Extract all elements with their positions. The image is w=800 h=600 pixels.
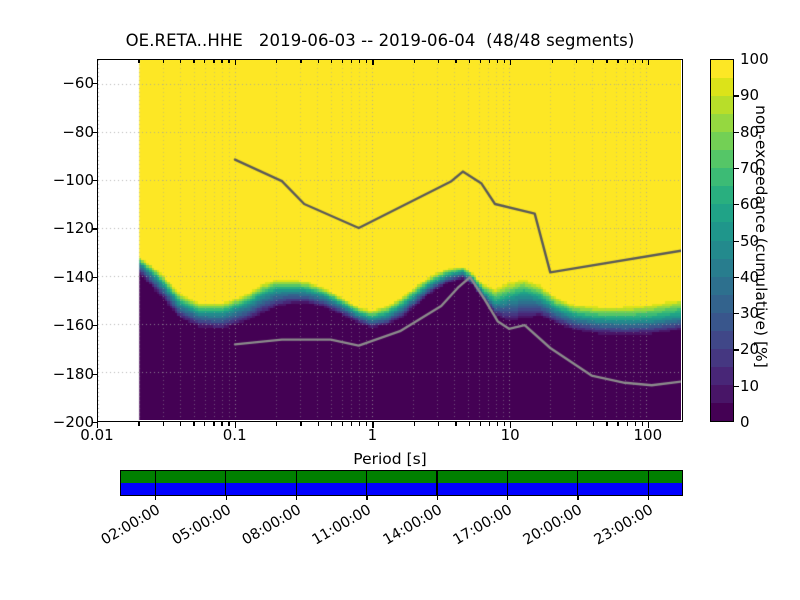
timeline-tick-mark <box>577 496 578 500</box>
colorbar-tick-mark <box>734 313 739 314</box>
colorbar-tick-mark <box>734 204 739 205</box>
x-axis-tick-mark-top <box>510 59 511 65</box>
y-axis-tick-label: −60 <box>4 74 94 92</box>
x-axis-tick-mark-top <box>359 59 360 63</box>
x-axis-tick-mark-top <box>552 59 553 63</box>
x-axis-tick-mark-top <box>642 59 643 63</box>
colorbar-tick-label: 0 <box>740 413 750 431</box>
x-axis-tick-label: 1 <box>332 426 412 444</box>
colorbar-tick-mark <box>734 241 739 242</box>
x-axis-tick-mark-top <box>593 59 594 63</box>
colorbar-band <box>711 295 733 313</box>
y-axis-tick-mark <box>92 374 97 375</box>
timeline-divider <box>296 471 297 495</box>
timeline-divider <box>436 471 437 495</box>
x-axis-tick-mark <box>497 422 498 426</box>
x-axis-tick-mark-top <box>97 59 98 65</box>
colorbar-gradient <box>711 60 733 421</box>
x-axis-tick-mark <box>97 422 98 428</box>
colorbar-tick-label: 100 <box>740 50 769 68</box>
x-axis-tick-mark <box>617 422 618 426</box>
x-axis-tick-mark <box>552 422 553 426</box>
colorbar-band <box>711 114 733 132</box>
x-axis-tick-mark <box>504 422 505 426</box>
ppsd-figure: OE.RETA..HHE 2019-06-03 -- 2019-06-04 (4… <box>0 0 800 600</box>
colorbar-band <box>711 78 733 96</box>
x-axis-tick-mark <box>331 422 332 426</box>
x-axis-tick-mark-top <box>489 59 490 63</box>
x-axis-tick-mark <box>593 422 594 426</box>
timeline-divider <box>225 471 226 495</box>
colorbar-tick-label: 80 <box>740 123 759 141</box>
colorbar-band <box>711 259 733 277</box>
y-axis-tick-label: −100 <box>4 171 94 189</box>
x-axis-tick-mark-top <box>163 59 164 63</box>
x-axis-tick-mark <box>576 422 577 426</box>
timeline-data-band <box>121 471 682 483</box>
timeline-tick-label: 11:00:00 <box>304 502 374 552</box>
colorbar-band <box>711 403 733 421</box>
x-axis-tick-mark-top <box>276 59 277 63</box>
colorbar-band <box>711 241 733 259</box>
x-axis-tick-mark-top <box>635 59 636 63</box>
colorbar-tick-mark <box>734 349 739 350</box>
x-axis-tick-mark-top <box>414 59 415 63</box>
x-axis-tick-mark-top <box>606 59 607 63</box>
timeline-tick-label: 08:00:00 <box>234 502 304 552</box>
x-axis-tick-mark <box>642 422 643 426</box>
timeline-tick-label: 20:00:00 <box>515 502 585 552</box>
x-axis-tick-mark-top <box>204 59 205 63</box>
x-axis-tick-mark <box>648 422 649 428</box>
x-axis-tick-mark <box>138 422 139 426</box>
x-axis-tick-mark <box>228 422 229 426</box>
colorbar-tick-mark <box>734 386 739 387</box>
x-axis-tick-mark <box>300 422 301 426</box>
x-axis-tick-mark <box>455 422 456 426</box>
x-axis-tick-mark-top <box>469 59 470 63</box>
colorbar-tick-label: 90 <box>740 86 759 104</box>
y-axis-tick-label: −120 <box>4 219 94 237</box>
x-axis-tick-mark <box>510 422 511 428</box>
x-axis-tick-mark <box>213 422 214 426</box>
colorbar-band <box>711 96 733 114</box>
x-axis-tick-mark-top <box>213 59 214 63</box>
x-axis-tick-mark <box>627 422 628 426</box>
plot-title: OE.RETA..HHE 2019-06-03 -- 2019-06-04 (4… <box>0 31 760 50</box>
timeline-tick-label: 17:00:00 <box>445 502 515 552</box>
y-axis-tick-label: −160 <box>4 316 94 334</box>
x-axis-tick-mark-top <box>300 59 301 63</box>
colorbar-band <box>711 222 733 240</box>
x-axis-tick-mark <box>438 422 439 426</box>
x-axis-tick-mark-top <box>138 59 139 63</box>
y-axis-tick-mark <box>92 228 97 229</box>
ppsd-histogram <box>98 60 681 420</box>
x-axis-tick-label: 0.01 <box>57 426 137 444</box>
x-axis-tick-mark <box>366 422 367 426</box>
colorbar-band <box>711 150 733 168</box>
x-axis-tick-mark-top <box>193 59 194 63</box>
colorbar-tick-mark <box>734 95 739 96</box>
x-axis-tick-mark <box>318 422 319 426</box>
x-axis-tick-mark-top <box>576 59 577 63</box>
x-axis-tick-mark-top <box>497 59 498 63</box>
timeline-divider <box>366 471 367 495</box>
colorbar-band <box>711 186 733 204</box>
x-axis-tick-mark-top <box>627 59 628 63</box>
colorbar-tick-label: 60 <box>740 195 759 213</box>
timeline-divider <box>155 471 156 495</box>
x-axis-tick-mark <box>235 422 236 428</box>
colorbar-band <box>711 349 733 367</box>
colorbar-tick-mark <box>734 168 739 169</box>
colorbar-band <box>711 331 733 349</box>
x-axis-tick-mark-top <box>648 59 649 65</box>
timeline-tick-label: 05:00:00 <box>163 502 233 552</box>
timeline-tick-mark <box>226 496 227 500</box>
x-axis-tick-mark-top <box>372 59 373 65</box>
timeline-tick-mark <box>648 496 649 500</box>
x-axis-tick-mark-top <box>480 59 481 63</box>
timeline-gap-band <box>121 483 682 495</box>
colorbar-tick-label: 20 <box>740 340 759 358</box>
x-axis-tick-mark-top <box>331 59 332 63</box>
colorbar-band <box>711 204 733 222</box>
x-axis-tick-mark <box>480 422 481 426</box>
x-axis-tick-mark <box>221 422 222 426</box>
y-axis-tick-label: −80 <box>4 123 94 141</box>
x-axis-tick-mark-top <box>438 59 439 63</box>
y-axis-tick-mark <box>92 277 97 278</box>
colorbar-band <box>711 313 733 331</box>
x-axis-tick-mark <box>342 422 343 426</box>
colorbar-band <box>711 277 733 295</box>
timeline-tick-label: 23:00:00 <box>585 502 655 552</box>
timeline-divider <box>577 471 578 495</box>
colorbar-tick-label: 40 <box>740 268 759 286</box>
timeline-tick-mark <box>296 496 297 500</box>
ppsd-plot-area[interactable] <box>97 59 683 422</box>
colorbar-tick-mark <box>734 277 739 278</box>
x-axis-tick-mark <box>489 422 490 426</box>
y-axis-tick-mark <box>92 83 97 84</box>
timeline-tick-label: 02:00:00 <box>93 502 163 552</box>
timeline-bar[interactable] <box>120 470 683 496</box>
timeline-divider <box>648 471 649 495</box>
x-axis-tick-mark-top <box>221 59 222 63</box>
y-axis-tick-mark <box>92 132 97 133</box>
colorbar-tick-mark <box>734 132 739 133</box>
x-axis-tick-label: 0.1 <box>195 426 275 444</box>
timeline-tick-mark <box>366 496 367 500</box>
colorbar-band <box>711 132 733 150</box>
colorbar <box>710 59 734 422</box>
x-axis-tick-mark-top <box>318 59 319 63</box>
x-axis-tick-mark-top <box>366 59 367 63</box>
x-axis-tick-mark-top <box>351 59 352 63</box>
colorbar-tick-label: 70 <box>740 159 759 177</box>
x-axis-tick-mark-top <box>455 59 456 63</box>
colorbar-tick-label: 30 <box>740 304 759 322</box>
y-axis-tick-label: −140 <box>4 268 94 286</box>
x-axis-tick-label: 10 <box>470 426 550 444</box>
x-axis-tick-mark <box>469 422 470 426</box>
x-axis-tick-mark-top <box>504 59 505 63</box>
x-axis-tick-mark <box>606 422 607 426</box>
colorbar-band <box>711 168 733 186</box>
colorbar-tick-label: 10 <box>740 377 759 395</box>
timeline-tick-mark <box>437 496 438 500</box>
y-axis-tick-mark <box>92 325 97 326</box>
x-axis-tick-mark-top <box>617 59 618 63</box>
y-axis-tick-mark <box>92 180 97 181</box>
x-axis-tick-mark <box>635 422 636 426</box>
timeline-tick-mark <box>507 496 508 500</box>
x-axis-tick-mark-top <box>180 59 181 63</box>
x-axis-tick-mark-top <box>342 59 343 63</box>
timeline-tick-mark <box>155 496 156 500</box>
colorbar-band <box>711 367 733 385</box>
timeline-divider <box>507 471 508 495</box>
timeline-tick-label: 14:00:00 <box>374 502 444 552</box>
x-axis-label: Period [s] <box>97 450 683 468</box>
x-axis-tick-mark <box>180 422 181 426</box>
colorbar-tick-label: 50 <box>740 232 759 250</box>
x-axis-tick-mark <box>359 422 360 426</box>
x-axis-tick-mark <box>163 422 164 426</box>
colorbar-band <box>711 60 733 78</box>
x-axis-tick-mark <box>414 422 415 426</box>
x-axis-tick-mark <box>193 422 194 426</box>
y-axis-tick-label: −180 <box>4 365 94 383</box>
x-axis-tick-mark-top <box>235 59 236 65</box>
x-axis-tick-mark-top <box>228 59 229 63</box>
colorbar-band <box>711 385 733 403</box>
x-axis-tick-mark <box>351 422 352 426</box>
x-axis-tick-mark <box>276 422 277 426</box>
x-axis-tick-label: 100 <box>608 426 688 444</box>
x-axis-tick-mark <box>204 422 205 426</box>
x-axis-tick-mark <box>372 422 373 428</box>
